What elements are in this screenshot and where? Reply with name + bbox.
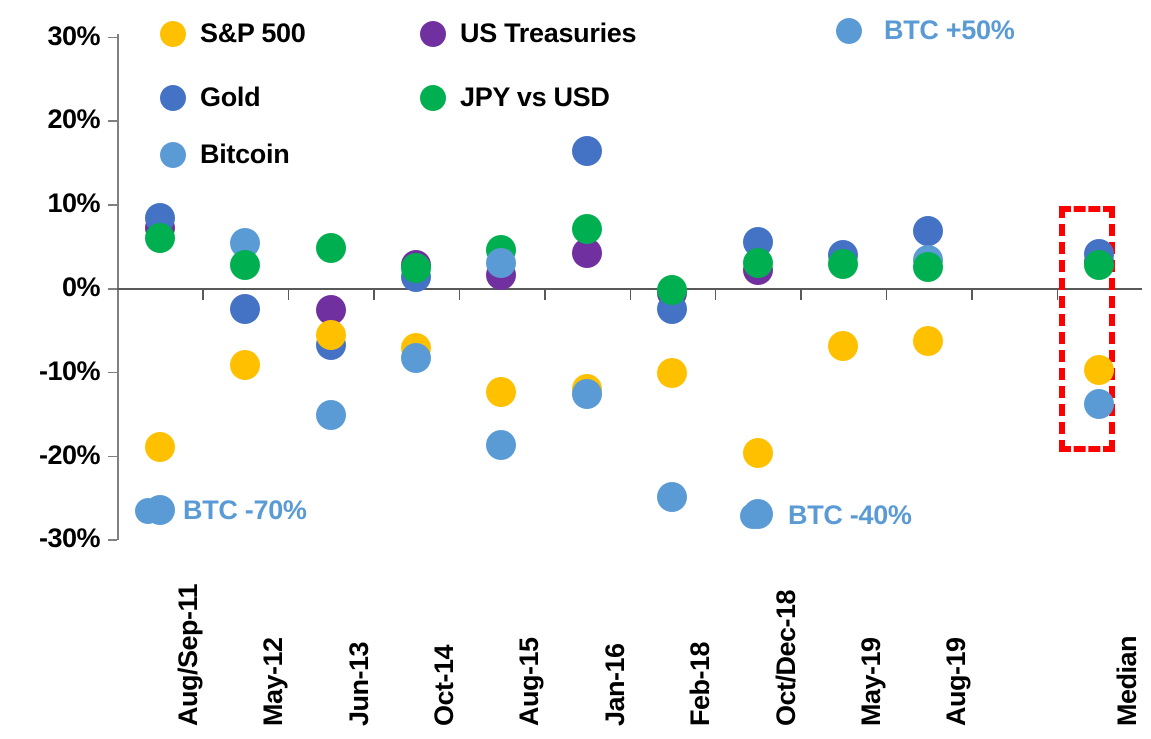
x-axis-tick (202, 289, 204, 300)
y-axis-tick-label: 20% (0, 106, 100, 133)
data-point (828, 249, 858, 279)
data-point (401, 343, 431, 373)
y-axis-line (117, 34, 119, 540)
data-point (913, 252, 943, 282)
data-point (572, 136, 602, 166)
legend-item-s-p-500[interactable]: S&P 500 (160, 18, 305, 49)
annotation-btc-minus-70: BTC -70% (135, 495, 307, 526)
legend-item-bitcoin[interactable]: Bitcoin (160, 139, 289, 170)
x-axis-category-label: Oct/Dec-18 (771, 590, 802, 726)
data-point (657, 358, 687, 388)
bitcoin-dot-icon (740, 503, 766, 529)
annotation-btc-plus-50: BTC +50% (836, 15, 1014, 46)
annotation-btc-minus-40: BTC -40% (740, 500, 912, 531)
legend-item-gold[interactable]: Gold (160, 82, 260, 113)
legend-color-dot-icon (420, 85, 446, 111)
legend-label: S&P 500 (200, 18, 305, 49)
legend-color-dot-icon (160, 85, 186, 111)
data-point (316, 400, 346, 430)
data-point (230, 350, 260, 380)
x-axis-category-label: Jun-13 (344, 642, 375, 726)
annotation-label: BTC +50% (884, 15, 1014, 46)
legend-label: JPY vs USD (460, 82, 610, 113)
x-axis-tick (800, 289, 802, 300)
data-point (572, 214, 602, 244)
x-axis-category-label: Aug-19 (941, 637, 972, 726)
y-axis-tick (108, 120, 117, 122)
data-point (230, 250, 260, 280)
data-point (316, 233, 346, 263)
data-point (145, 432, 175, 462)
bitcoin-dot-icon (135, 498, 161, 524)
data-point (230, 294, 260, 324)
data-point (486, 430, 516, 460)
y-axis-tick-label: 30% (0, 23, 100, 50)
x-axis-tick (544, 289, 546, 300)
legend-label: US Treasuries (460, 18, 636, 49)
x-axis-tick (886, 289, 888, 300)
legend-color-dot-icon (160, 142, 186, 168)
chart-canvas: 30%20%10%0%-10%-20%-30% S&P 500GoldBitco… (0, 0, 1151, 739)
x-axis-category-label: Median (1112, 636, 1143, 726)
x-axis-category-label: Aug-15 (514, 637, 545, 726)
data-point (657, 275, 687, 305)
y-axis-tick-label: 0% (0, 274, 100, 301)
x-axis-category-label: May-19 (856, 637, 887, 726)
x-axis-tick (971, 289, 973, 300)
x-axis-tick (373, 289, 375, 300)
x-axis-category-label: Aug/Sep-11 (173, 584, 204, 726)
legend-label: Bitcoin (200, 139, 289, 170)
bitcoin-dot-icon (836, 18, 862, 44)
data-point (657, 482, 687, 512)
legend-item-us-treasuries[interactable]: US Treasuries (420, 18, 636, 49)
data-point (486, 377, 516, 407)
y-axis-tick (108, 372, 117, 374)
data-point (572, 379, 602, 409)
y-axis-tick (108, 204, 117, 206)
data-point (145, 223, 175, 253)
y-axis-tick (108, 288, 117, 290)
x-axis-category-label: Jan-16 (600, 643, 631, 726)
data-point (401, 253, 431, 283)
data-point (743, 438, 773, 468)
data-point (743, 248, 773, 278)
x-axis-tick (459, 289, 461, 300)
x-axis-tick (1057, 289, 1059, 300)
data-point (1084, 250, 1114, 280)
x-axis-category-label: Oct-14 (429, 645, 460, 726)
x-axis-tick (288, 289, 290, 300)
data-point (316, 320, 346, 350)
legend-item-jpy-vs-usd[interactable]: JPY vs USD (420, 82, 610, 113)
y-axis-tick (108, 456, 117, 458)
x-axis-category-label: Feb-18 (685, 642, 716, 726)
x-axis-tick (715, 289, 717, 300)
annotation-label: BTC -70% (183, 495, 307, 526)
y-axis-tick-label: -10% (0, 358, 100, 385)
legend-label: Gold (200, 82, 260, 113)
y-axis-tick-label: 10% (0, 190, 100, 217)
data-point (913, 326, 943, 356)
y-axis-tick (108, 37, 117, 39)
annotation-label: BTC -40% (788, 500, 912, 531)
y-axis-tick (108, 539, 117, 541)
data-point (828, 331, 858, 361)
legend-color-dot-icon (160, 21, 186, 47)
y-axis-tick-label: -20% (0, 442, 100, 469)
x-axis-tick (630, 289, 632, 300)
data-point (913, 216, 943, 246)
y-axis-tick-label: -30% (0, 525, 100, 552)
legend-color-dot-icon (420, 21, 446, 47)
x-axis-category-label: May-12 (258, 637, 289, 726)
